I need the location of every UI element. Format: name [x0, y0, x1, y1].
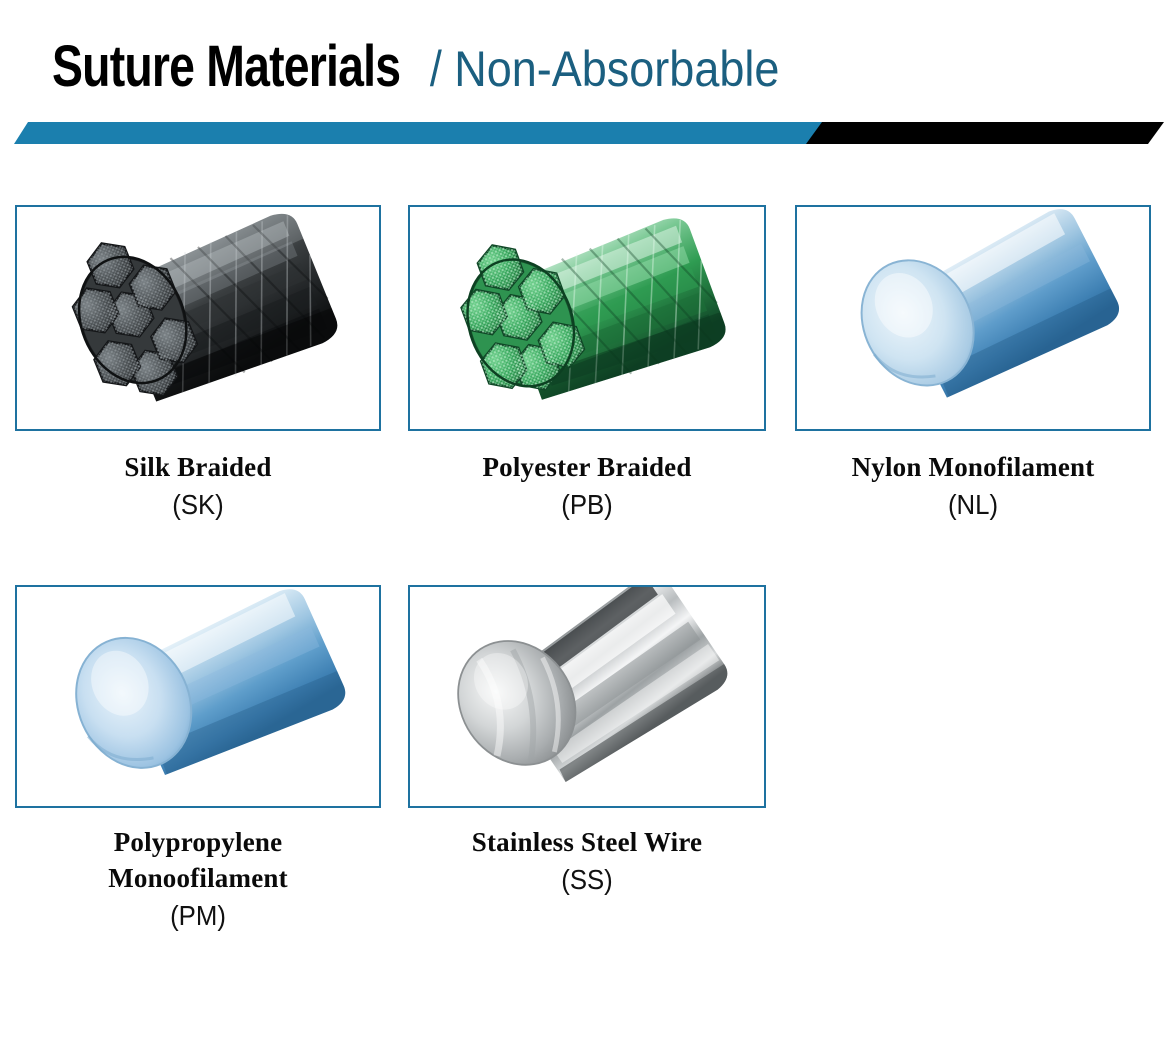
- steel-wire-icon: [410, 587, 764, 806]
- braided-suture-icon: [17, 207, 379, 429]
- suture-card-silk-braided[interactable]: Silk Braided (SK): [15, 205, 381, 525]
- suture-abbreviation: (PM): [30, 896, 367, 936]
- suture-abbreviation: (SK): [30, 485, 367, 525]
- suture-caption: Silk Braided (SK): [15, 449, 381, 525]
- suture-caption: Stainless Steel Wire (SS): [408, 824, 766, 900]
- braided-suture-icon: [410, 207, 764, 429]
- monofilament-suture-icon: [797, 207, 1149, 429]
- suture-name: Nylon Monofilament: [795, 449, 1151, 485]
- suture-name: Silk Braided: [15, 449, 381, 485]
- suture-caption: Polypropylene Monoofilament (PM): [15, 824, 381, 936]
- suture-caption: Nylon Monofilament (NL): [795, 449, 1151, 525]
- suture-card-stainless-steel-wire[interactable]: Stainless Steel Wire (SS): [408, 585, 766, 900]
- suture-image-frame: [15, 205, 381, 431]
- monofilament-suture-icon: [17, 587, 379, 806]
- suture-abbreviation: (SS): [422, 860, 751, 900]
- suture-image-frame: [408, 205, 766, 431]
- suture-card-polypropylene-monofilament[interactable]: Polypropylene Monoofilament (PM): [15, 585, 381, 936]
- suture-name: Polyester Braided: [408, 449, 766, 485]
- suture-caption: Polyester Braided (PB): [408, 449, 766, 525]
- suture-card-nylon-monofilament[interactable]: Nylon Monofilament (NL): [795, 205, 1151, 525]
- suture-name-line1: Polypropylene: [15, 824, 381, 860]
- suture-card-grid: Silk Braided (SK): [0, 0, 1175, 1060]
- suture-image-frame: [15, 585, 381, 808]
- suture-image-frame: [408, 585, 766, 808]
- suture-abbreviation: (PB): [422, 485, 751, 525]
- suture-image-frame: [795, 205, 1151, 431]
- suture-abbreviation: (NL): [809, 485, 1137, 525]
- suture-name: Stainless Steel Wire: [408, 824, 766, 860]
- suture-card-polyester-braided[interactable]: Polyester Braided (PB): [408, 205, 766, 525]
- suture-name-line2: Monoofilament: [15, 860, 381, 896]
